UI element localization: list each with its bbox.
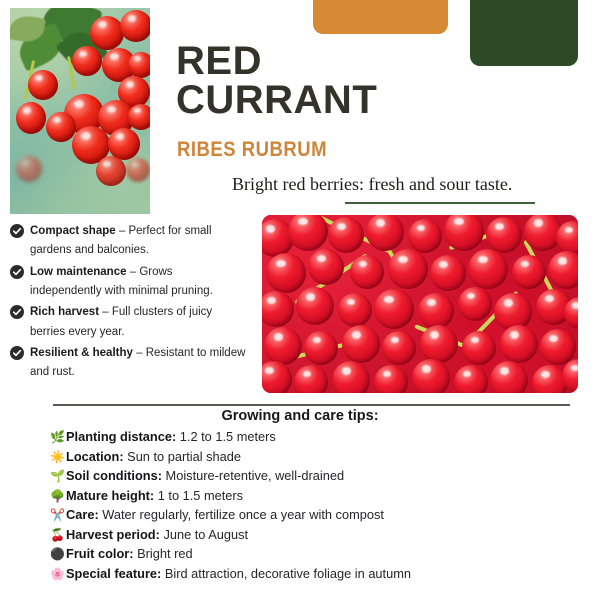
berry-shape: [374, 365, 408, 393]
berry-shape: [266, 253, 306, 293]
berry-shape: [16, 156, 42, 182]
tip-text: Location: Sun to partial shade: [66, 448, 241, 467]
berry-shape: [458, 287, 492, 321]
berry-shape: [90, 16, 124, 50]
tip-value: Bird attraction, decorative foliage in a…: [165, 566, 411, 581]
berry-shape: [126, 158, 150, 182]
berry-shape: [412, 359, 450, 393]
berry-shape: [420, 325, 458, 363]
berry-shape: [540, 329, 576, 365]
tip-value: Water regularly, fertilize once a year w…: [102, 507, 384, 522]
list-item: Low maintenance – Grows independently wi…: [10, 263, 246, 302]
berry-shape: [96, 156, 126, 186]
latin-name: RIBES RUBRUM: [177, 138, 327, 162]
tip-text: Mature height: 1 to 1.5 meters: [66, 487, 243, 506]
feature-text: Low maintenance – Grows independently wi…: [30, 263, 246, 302]
tip-label: Fruit color:: [66, 546, 134, 561]
check-circle-icon: [10, 305, 24, 319]
berry-shape: [328, 217, 364, 253]
berry-shape: [264, 327, 302, 365]
tip-value: Sun to partial shade: [127, 449, 241, 464]
orange-accent-block: [313, 0, 448, 34]
tagline: Bright red berries: fresh and sour taste…: [232, 174, 512, 195]
feature-label: Compact shape: [30, 225, 116, 237]
berry-shape: [512, 255, 546, 289]
berry-shape: [46, 112, 76, 142]
berry-shape: [418, 293, 454, 329]
berry-shape: [120, 10, 150, 42]
tip-text: Soil conditions: Moisture-retentive, wel…: [66, 467, 344, 486]
berry-shape: [490, 361, 528, 393]
berry-shape: [374, 289, 414, 329]
list-item: ☀️ Location: Sun to partial shade: [50, 448, 590, 467]
tips-heading: Growing and care tips:: [0, 408, 600, 424]
page-title: RED CURRANT: [176, 42, 476, 120]
list-item: ✂️ Care: Water regularly, fertilize once…: [50, 506, 590, 525]
berry-shape: [16, 102, 46, 134]
tips-divider: [53, 404, 570, 406]
title-line-2: CURRANT: [176, 81, 476, 120]
tip-value: 1 to 1.5 meters: [158, 488, 243, 503]
tip-value: 1.2 to 1.5 meters: [180, 429, 276, 444]
berry-shape: [382, 331, 416, 365]
tip-label: Mature height:: [66, 488, 154, 503]
berry-shape: [332, 361, 370, 393]
tip-label: Care:: [66, 507, 99, 522]
list-item: 🌱 Soil conditions: Moisture-retentive, w…: [50, 467, 590, 486]
berry-shape: [388, 249, 428, 289]
list-item: 🌸 Special feature: Bird attraction, deco…: [50, 565, 590, 584]
tagline-divider: [345, 202, 535, 204]
feature-dash: –: [102, 306, 108, 318]
tip-text: Special feature: Bird attraction, decora…: [66, 565, 411, 584]
feature-label: Rich harvest: [30, 306, 99, 318]
feature-list: Compact shape – Perfect for small garden…: [10, 222, 246, 385]
currant-pile-photo: [262, 215, 578, 393]
scissors-icon: ✂️: [50, 506, 66, 525]
feature-text: Resilient & healthy – Resistant to milde…: [30, 344, 246, 383]
sun-icon: ☀️: [50, 448, 66, 467]
tip-label: Harvest period:: [66, 527, 160, 542]
title-line-1: RED: [176, 39, 262, 83]
feature-label: Low maintenance: [30, 266, 127, 278]
berry-shape: [468, 249, 508, 289]
list-item: 🍒 Harvest period: June to August: [50, 526, 590, 545]
tip-text: Planting distance: 1.2 to 1.5 meters: [66, 428, 276, 447]
berry-shape: [338, 293, 372, 327]
blossom-icon: 🌸: [50, 565, 66, 584]
list-item: Compact shape – Perfect for small garden…: [10, 222, 246, 261]
tip-value: June to August: [163, 527, 248, 542]
list-item: 🌳 Mature height: 1 to 1.5 meters: [50, 487, 590, 506]
infographic-page: RED CURRANT RIBES RUBRUM Bright red berr…: [0, 0, 600, 600]
tip-value: Bright red: [137, 546, 192, 561]
feature-label: Resilient & healthy: [30, 347, 133, 359]
berry-shape: [28, 70, 58, 100]
feature-dash: –: [119, 225, 125, 237]
tip-text: Harvest period: June to August: [66, 526, 248, 545]
berry-shape: [128, 52, 150, 78]
berry-shape: [294, 365, 328, 393]
berry-shape: [350, 255, 384, 289]
tips-list: 🌿 Planting distance: 1.2 to 1.5 meters ☀…: [50, 428, 590, 584]
tip-label: Soil conditions:: [66, 468, 162, 483]
check-circle-icon: [10, 265, 24, 279]
berry-shape: [72, 46, 102, 76]
berry-shape: [296, 287, 334, 325]
list-item: Resilient & healthy – Resistant to milde…: [10, 344, 246, 383]
berry-shape: [454, 365, 488, 393]
berry-shape: [308, 249, 344, 285]
tip-label: Location:: [66, 449, 124, 464]
tip-text: Fruit color: Bright red: [66, 545, 193, 564]
berry-shape: [304, 331, 338, 365]
currant-branch-photo: [10, 8, 150, 214]
tip-text: Care: Water regularly, fertilize once a …: [66, 506, 384, 525]
feature-text: Compact shape – Perfect for small garden…: [30, 222, 246, 261]
tip-label: Special feature:: [66, 566, 161, 581]
list-item: 🌿 Planting distance: 1.2 to 1.5 meters: [50, 428, 590, 447]
berry-shape: [430, 255, 466, 291]
berry-shape: [342, 325, 380, 363]
cherries-icon: 🍒: [50, 526, 66, 545]
berry-shape: [462, 331, 496, 365]
berry-shape: [486, 217, 522, 253]
berry-shape: [128, 104, 150, 130]
herb-icon: 🌿: [50, 428, 66, 447]
check-circle-icon: [10, 224, 24, 238]
berry-shape: [548, 251, 578, 289]
tree-icon: 🌳: [50, 487, 66, 506]
list-item: ⚫ Fruit color: Bright red: [50, 545, 590, 564]
berry-shape: [500, 325, 538, 363]
feature-dash: –: [136, 347, 142, 359]
black-circle-icon: ⚫: [50, 545, 66, 564]
seedling-icon: 🌱: [50, 467, 66, 486]
tip-value: Moisture-retentive, well-drained: [166, 468, 345, 483]
feature-dash: –: [130, 266, 136, 278]
list-item: Rich harvest – Full clusters of juicy be…: [10, 303, 246, 342]
check-circle-icon: [10, 346, 24, 360]
feature-text: Rich harvest – Full clusters of juicy be…: [30, 303, 246, 342]
tip-label: Planting distance:: [66, 429, 176, 444]
berry-shape: [408, 219, 442, 253]
green-accent-block: [470, 0, 578, 66]
